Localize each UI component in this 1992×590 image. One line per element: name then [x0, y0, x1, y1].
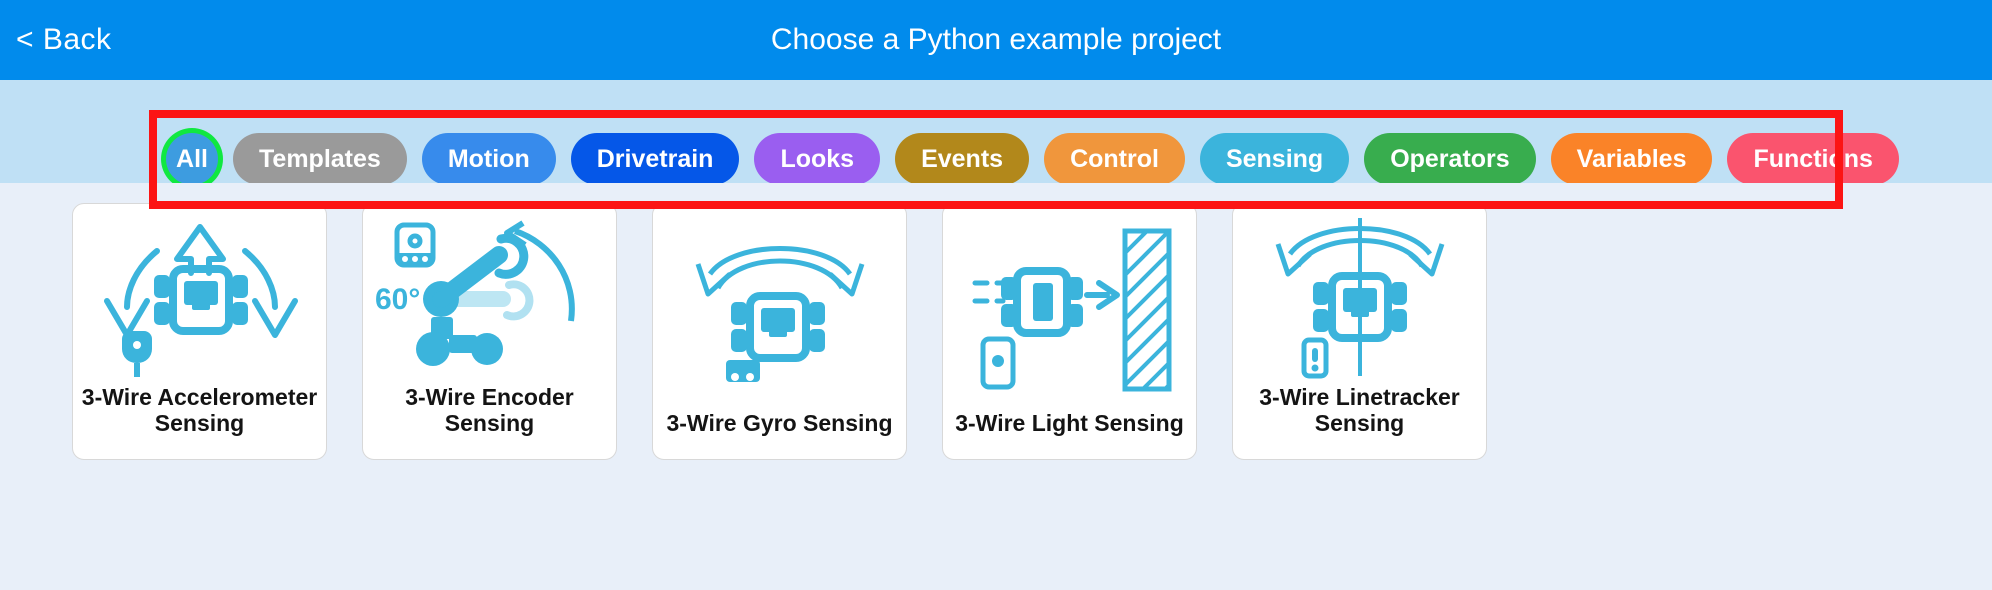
category-pill-events[interactable]: Events [895, 133, 1029, 185]
linetracker-sensing-icon [1233, 204, 1486, 384]
category-pill-list: AllTemplatesMotionDrivetrainLooksEventsC… [166, 128, 1899, 190]
project-card[interactable]: 60°3-Wire Encoder Sensing [362, 203, 617, 460]
category-pill-operators[interactable]: Operators [1364, 133, 1535, 185]
category-pill-label: Sensing [1226, 145, 1323, 174]
category-pill-label: Looks [780, 145, 854, 174]
accelerometer-sensing-icon [73, 204, 326, 384]
gyro-sensing-icon [653, 204, 906, 410]
category-pill-label: Motion [448, 145, 530, 174]
category-pill-sensing[interactable]: Sensing [1200, 133, 1349, 185]
category-pill-looks[interactable]: Looks [754, 133, 880, 185]
category-pill-label: Events [921, 145, 1003, 174]
category-pill-drivetrain[interactable]: Drivetrain [571, 133, 740, 185]
category-pill-label: Operators [1390, 145, 1509, 174]
category-pill-all[interactable]: All [166, 133, 218, 185]
category-pill-label: Templates [259, 145, 381, 174]
light-sensing-icon [943, 204, 1196, 410]
project-card[interactable]: 3-Wire Gyro Sensing [652, 203, 907, 460]
category-pill-label: Variables [1577, 145, 1687, 174]
category-pill-label: Functions [1753, 145, 1872, 174]
project-card-label: 3-Wire Linetracker Sensing [1233, 384, 1486, 459]
category-filter-bar: AllTemplatesMotionDrivetrainLooksEventsC… [0, 80, 1992, 183]
project-card[interactable]: 3-Wire Accelerometer Sensing [72, 203, 327, 460]
project-card-label: 3-Wire Light Sensing [943, 410, 1196, 459]
page-title: Choose a Python example project [0, 25, 1992, 55]
category-pill-label: All [176, 145, 208, 174]
category-pill-variables[interactable]: Variables [1551, 133, 1713, 185]
app-header: < Back Choose a Python example project [0, 0, 1992, 80]
project-cards-area: 3-Wire Accelerometer Sensing [0, 183, 1992, 590]
category-pill-label: Control [1070, 145, 1159, 174]
category-pill-control[interactable]: Control [1044, 133, 1185, 185]
project-card-label: 3-Wire Gyro Sensing [653, 410, 906, 459]
encoder-angle-label: 60° [375, 283, 420, 316]
project-card-row: 3-Wire Accelerometer Sensing [0, 195, 1992, 460]
category-pill-label: Drivetrain [597, 145, 714, 174]
project-card[interactable]: 3-Wire Linetracker Sensing [1232, 203, 1487, 460]
project-card[interactable]: 3-Wire Light Sensing [942, 203, 1197, 460]
project-card-label: 3-Wire Accelerometer Sensing [73, 384, 326, 459]
category-pill-functions[interactable]: Functions [1727, 133, 1898, 185]
encoder-sensing-icon: 60° [363, 204, 616, 384]
back-button[interactable]: < Back [16, 25, 112, 55]
category-pill-motion[interactable]: Motion [422, 133, 556, 185]
project-card-label: 3-Wire Encoder Sensing [363, 384, 616, 459]
category-pill-templates[interactable]: Templates [233, 133, 407, 185]
